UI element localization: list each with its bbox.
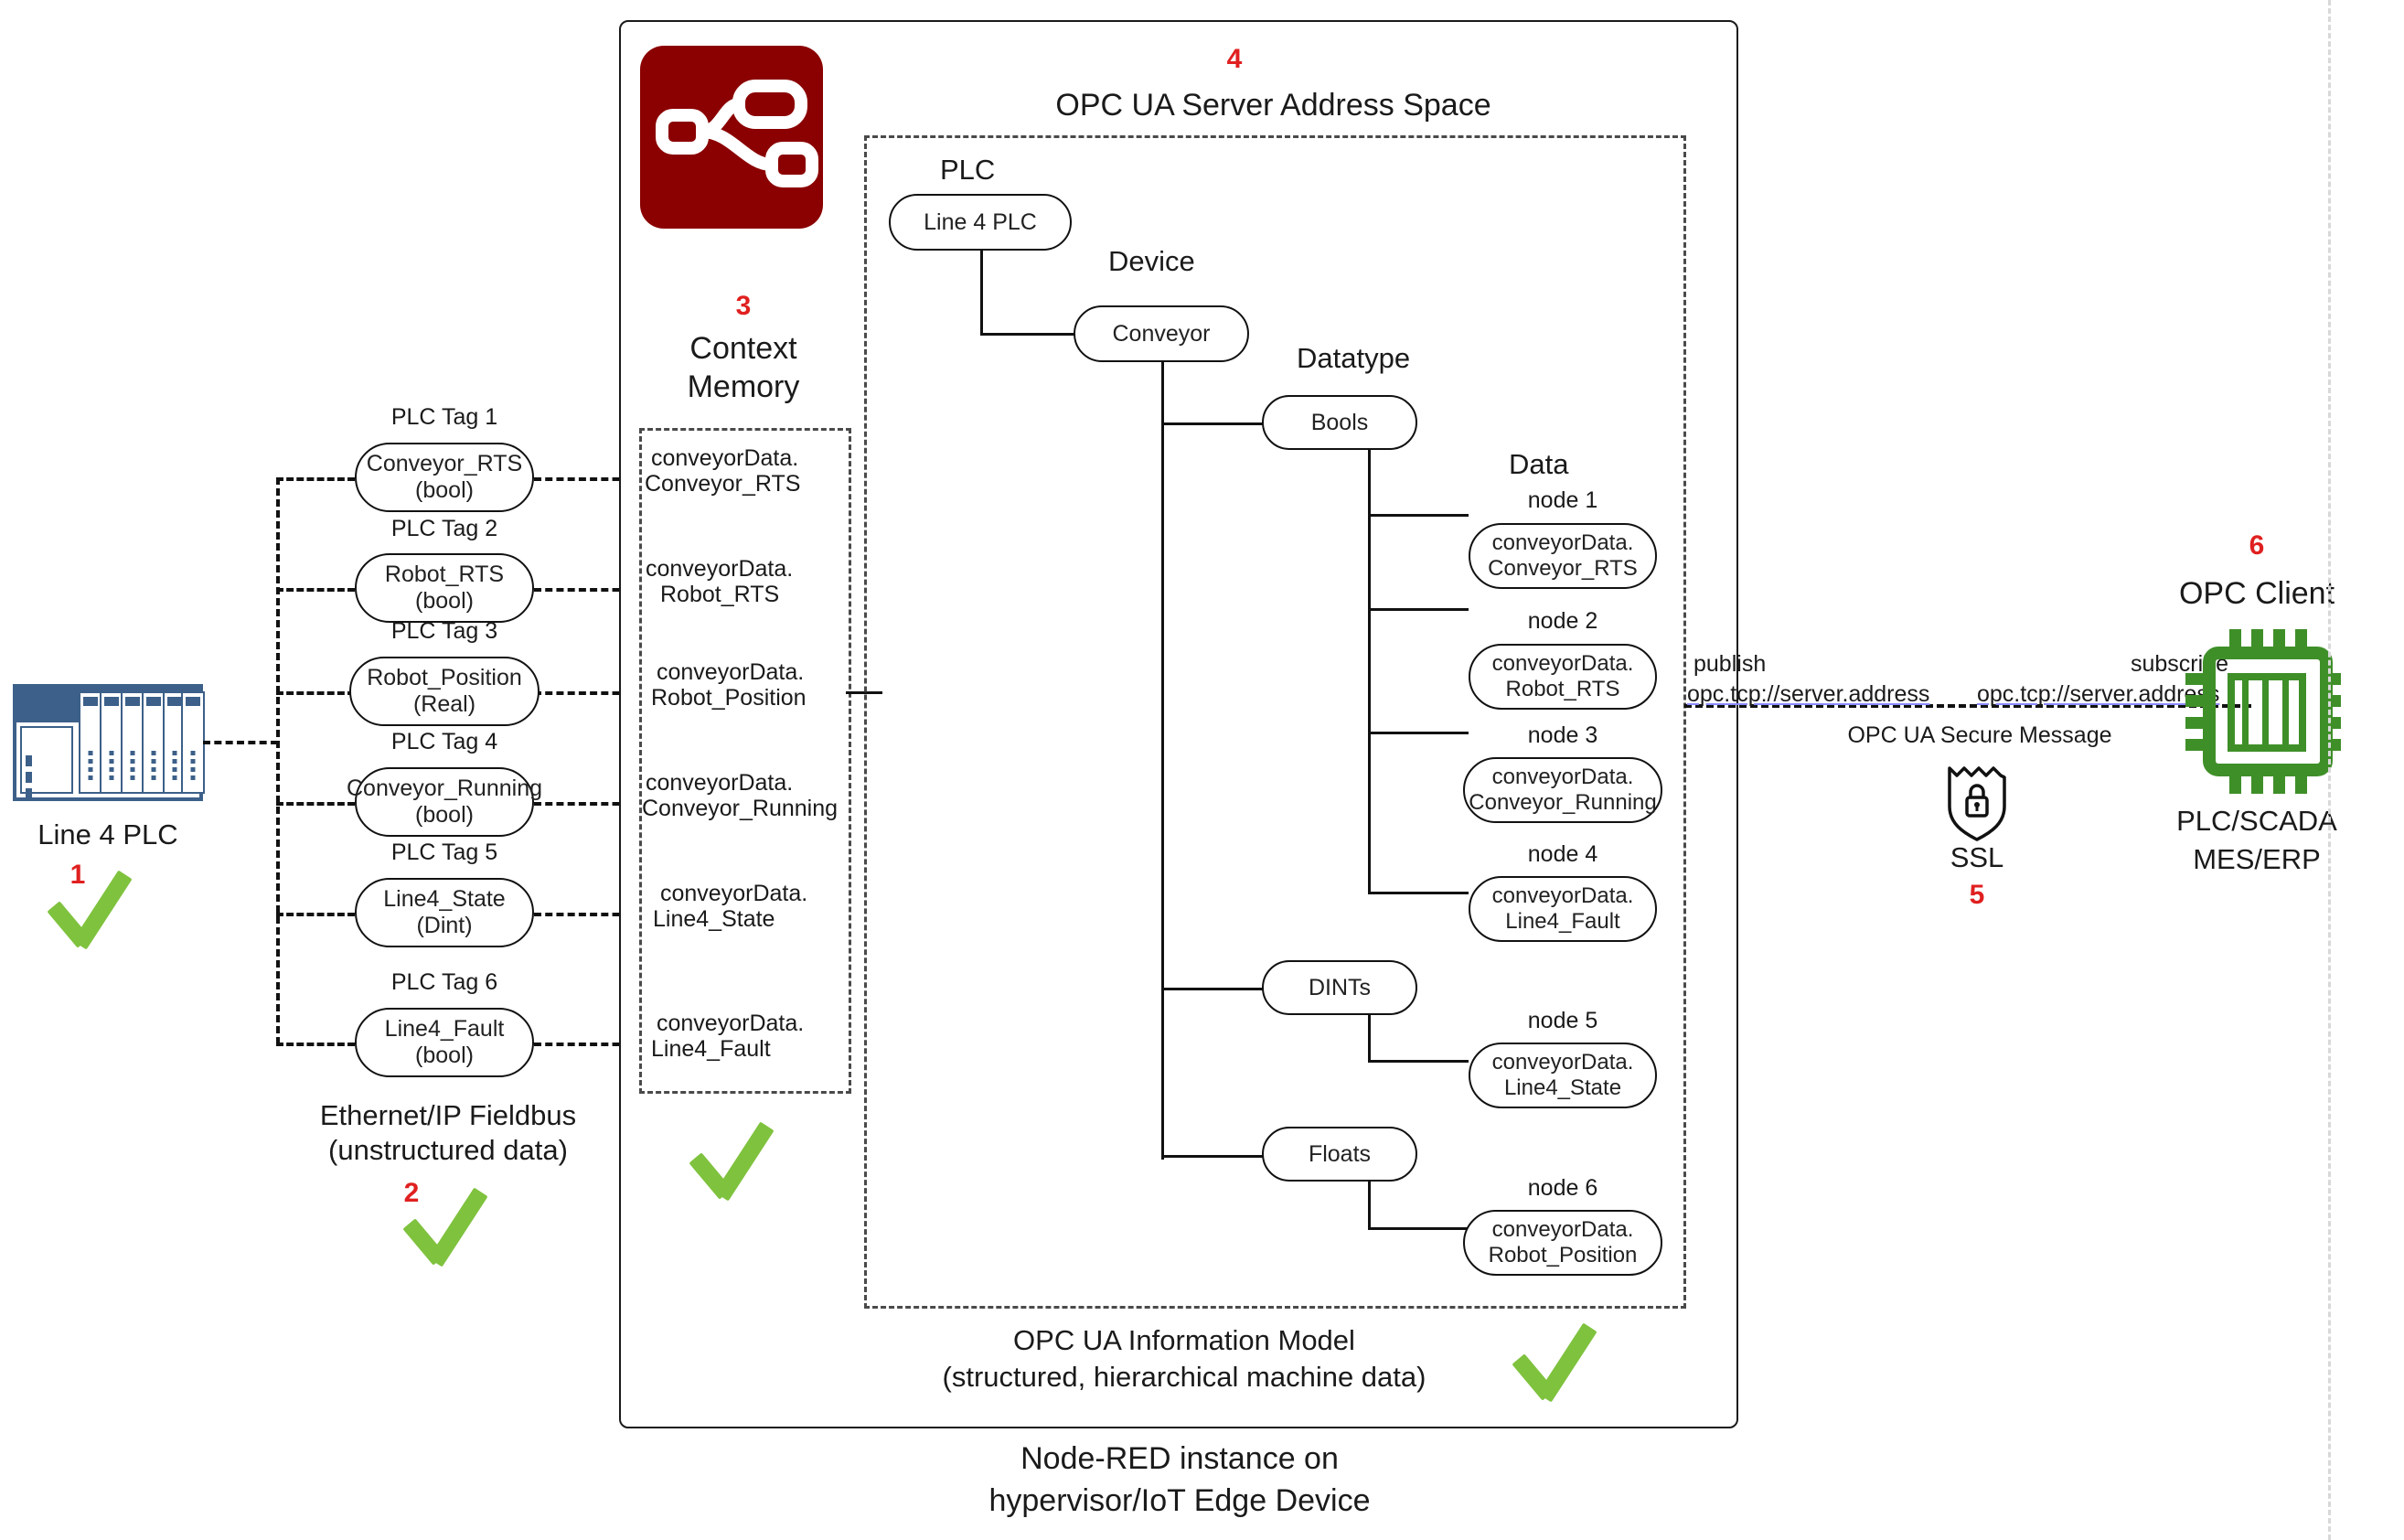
publish-label: publish [1693, 651, 1766, 678]
data-node-line1: conveyorData. [1492, 530, 1634, 555]
device-to-floats-link [1161, 1155, 1264, 1158]
host-footer-line2: hypervisor/IoT Edge Device [914, 1483, 1445, 1519]
plc-tag-name: Robot_RTS [385, 561, 504, 587]
data-node-line2: Robot_Position [1489, 1243, 1638, 1267]
plc-tag-name: Line4_Fault [385, 1016, 505, 1042]
address-space-device-caption: Device [1108, 245, 1195, 278]
context-entry-line1: conveyorData. [646, 556, 793, 583]
device-to-dints-link [1161, 988, 1264, 990]
address-space-datatype-node-bools[interactable]: Bools [1262, 395, 1417, 450]
bools-to-node2 [1368, 608, 1469, 611]
datatype-dints-label: DINTs [1309, 975, 1371, 1001]
check-mark-4 [1518, 1317, 1619, 1417]
context-entry-line1: conveyorData. [657, 659, 804, 686]
ssl-label: SSL [1895, 841, 2059, 874]
plc-tag-caption: PLC Tag 6 [355, 969, 534, 996]
device-to-datatype-trunk [1161, 362, 1164, 1160]
data-node-caption: node 2 [1469, 608, 1657, 635]
fieldbus-branch-tag5 [276, 913, 355, 916]
data-node-line2: Robot_RTS [1506, 677, 1620, 701]
node-red-logo [640, 46, 823, 229]
plc-tag-name: Robot_Position [367, 665, 522, 690]
context-entry-line2: Robot_RTS [660, 582, 779, 608]
fieldbus-branch-tag3 [276, 691, 355, 695]
context-entry-line1: conveyorData. [660, 881, 807, 907]
datatype-floats-label: Floats [1309, 1141, 1371, 1168]
opc-client-title: OPC Client [2129, 576, 2385, 612]
plc-tag-caption: PLC Tag 2 [355, 516, 534, 542]
data-node-line2: Conveyor_Running [1469, 790, 1656, 815]
floats-trunk [1368, 1182, 1371, 1230]
opc-client-chip-icon [2185, 629, 2341, 794]
address-space-title: OPC UA Server Address Space [864, 88, 1683, 123]
address-space-device-node-label: Conveyor [1113, 321, 1211, 348]
context-entry-line2: Line4_Fault [651, 1036, 771, 1063]
plc-tag-node[interactable]: Line4_Fault (bool) [355, 1008, 534, 1077]
data-node-caption: node 4 [1469, 841, 1657, 868]
data-node-caption: node 5 [1469, 1008, 1657, 1034]
fieldbus-label-line2: (unstructured data) [274, 1134, 622, 1167]
plc-tag-caption: PLC Tag 5 [355, 840, 534, 866]
plc-tag-type: (bool) [415, 588, 474, 614]
step-number-4: 4 [1198, 44, 1271, 75]
context-entry-line2: Conveyor_Running [642, 796, 838, 822]
node-red-logo-glyph [640, 46, 823, 229]
data-node[interactable]: conveyorData. Robot_Position [1463, 1210, 1662, 1276]
check-mark-3 [695, 1116, 796, 1216]
plc-to-device-horizontal [980, 333, 1075, 336]
data-node-line1: conveyorData. [1492, 1217, 1634, 1242]
fieldbus-branch-tag1 [276, 477, 355, 481]
context-entry-line1: conveyorData. [646, 770, 793, 797]
context-entry-line2: Robot_Position [651, 685, 807, 711]
fieldbus-label-line1: Ethernet/IP Fieldbus [274, 1099, 622, 1132]
fieldbus-branch-tag2 [276, 588, 355, 592]
publish-url: opc.tcp://server.address [1687, 681, 1929, 708]
data-node[interactable]: conveyorData. Conveyor_Running [1463, 757, 1662, 823]
context-memory-title-1: Context [631, 331, 856, 367]
plc-tag-caption: PLC Tag 4 [355, 729, 534, 755]
address-space-device-node[interactable]: Conveyor [1074, 305, 1249, 362]
address-space-datatype-node-dints[interactable]: DINTs [1262, 960, 1417, 1015]
step-number-3: 3 [640, 291, 847, 322]
plc-tag-type: (Real) [413, 691, 475, 717]
address-space-plc-node-label: Line 4 PLC [924, 209, 1037, 236]
bools-to-node3 [1368, 732, 1469, 734]
context-entry-line2: Conveyor_RTS [645, 471, 800, 497]
plc-tag-caption: PLC Tag 3 [355, 618, 534, 645]
address-space-plc-caption: PLC [940, 154, 995, 187]
host-footer-line1: Node-RED instance on [914, 1441, 1445, 1477]
fieldbus-branch-tag6 [276, 1043, 355, 1046]
data-node-line1: conveyorData. [1492, 651, 1634, 676]
plc-tag-type: (Dint) [416, 913, 472, 938]
plc-tag-type: (bool) [415, 477, 474, 503]
ssl-shield-icon [1940, 757, 2014, 841]
plc-tag-name: Conveyor_Running [347, 775, 542, 801]
plc-to-device-vertical [980, 251, 983, 335]
data-node[interactable]: conveyorData. Robot_RTS [1469, 644, 1657, 710]
plc-tag-name: Conveyor_RTS [367, 451, 522, 476]
context-entry-line2: Line4_State [653, 906, 775, 933]
data-node[interactable]: conveyorData. Line4_State [1469, 1043, 1657, 1108]
plc-tag-node[interactable]: Robot_RTS (bool) [355, 553, 534, 623]
information-model-footer-line2: (structured, hierarchical machine data) [864, 1361, 1504, 1394]
plc-tag-caption: PLC Tag 1 [355, 404, 534, 431]
dints-to-node5 [1368, 1060, 1469, 1063]
plc-tag-node[interactable]: Robot_Position (Real) [349, 657, 540, 726]
plc-rack-graphic [13, 684, 203, 801]
opc-client-subtitle-line2: MES/ERP [2129, 843, 2385, 876]
fieldbus-link-from-plc [203, 741, 278, 744]
data-node-line1: conveyorData. [1492, 1050, 1634, 1075]
data-node-line2: Line4_Fault [1505, 909, 1619, 934]
plc-tag-node[interactable]: Conveyor_Running (bool) [355, 767, 534, 837]
data-node-caption: node 3 [1469, 722, 1657, 749]
rack-module [181, 691, 205, 794]
check-mark-2 [409, 1182, 509, 1282]
secure-message-label: OPC UA Secure Message [1797, 722, 2163, 749]
fieldbus-trunk [276, 477, 280, 1044]
address-space-datatype-node-floats[interactable]: Floats [1262, 1127, 1417, 1182]
plc-tag-type: (bool) [415, 802, 474, 828]
check-mark-1 [53, 864, 154, 965]
dints-trunk [1368, 1015, 1371, 1063]
address-space-datatype-caption: Datatype [1297, 342, 1410, 375]
floats-to-node6 [1368, 1227, 1469, 1230]
data-node-line2: Conveyor_RTS [1488, 556, 1638, 581]
step-number-6: 6 [2220, 530, 2293, 561]
subscribe-url: opc.tcp://server.address [1977, 681, 2219, 708]
bools-to-node1 [1368, 514, 1469, 517]
fieldbus-branch-tag4 [276, 802, 355, 806]
step-number-5: 5 [1895, 880, 2059, 911]
context-entry-line1: conveyorData. [651, 445, 798, 472]
plc-tag-node[interactable]: Line4_State (Dint) [355, 878, 534, 947]
canvas-right-divider [2328, 0, 2331, 1540]
context-memory-title-2: Memory [631, 369, 856, 405]
data-node-caption: node 6 [1469, 1175, 1657, 1202]
data-node-line2: Line4_State [1504, 1075, 1621, 1100]
device-to-bools-link [1161, 422, 1264, 425]
context-entry-line1: conveyorData. [657, 1011, 804, 1037]
plc-tag-name: Line4_State [383, 886, 505, 912]
rack-status-leds [26, 755, 32, 766]
data-node[interactable]: conveyorData. Conveyor_RTS [1469, 523, 1657, 589]
address-space-plc-node[interactable]: Line 4 PLC [889, 194, 1072, 251]
opc-client-subtitle-line1: PLC/SCADA [2129, 805, 2385, 838]
data-node-caption: node 1 [1469, 487, 1657, 514]
datatype-bools-label: Bools [1311, 410, 1369, 436]
plc-tag-node[interactable]: Conveyor_RTS (bool) [355, 443, 534, 512]
data-node-line1: conveyorData. [1492, 765, 1634, 789]
information-model-footer-line1: OPC UA Information Model [864, 1324, 1504, 1357]
address-space-data-caption: Data [1509, 448, 1568, 481]
data-node[interactable]: conveyorData. Line4_Fault [1469, 876, 1657, 942]
plc-device-label: Line 4 PLC [0, 818, 216, 851]
bools-to-node4 [1368, 892, 1469, 894]
context-memory-box [639, 428, 851, 1094]
data-node-line1: conveyorData. [1492, 883, 1634, 908]
plc-tag-type: (bool) [415, 1043, 474, 1068]
